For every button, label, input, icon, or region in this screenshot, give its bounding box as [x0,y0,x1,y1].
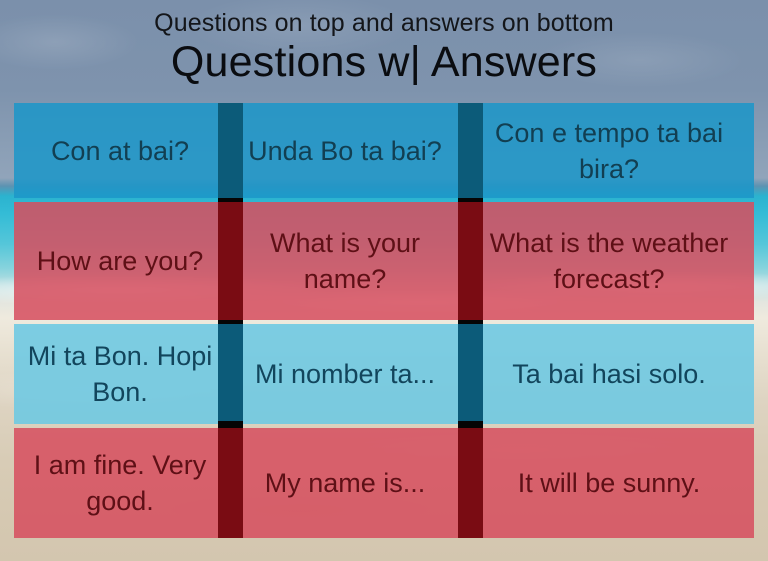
slide-canvas: Questions on top and answers on bottom Q… [0,0,768,561]
table-row-question-papiamento: Con at bai? Unda Bo ta bai? Con e tempo … [14,103,754,198]
slide-subtitle: Questions on top and answers on bottom [0,0,768,39]
table-cell: It will be sunny. [464,428,754,538]
divider-segment [218,421,243,428]
table-row-answer-english: I am fine. Very good. My name is... It w… [14,428,754,538]
table-cell: Ta bai hasi solo. [464,324,754,424]
slide-header: Questions on top and answers on bottom Q… [0,0,768,87]
vocabulary-table: Con at bai? Unda Bo ta bai? Con e tempo … [14,103,754,538]
slide-title: Questions w| Answers [0,37,768,87]
table-cell: Mi nomber ta... [226,324,464,424]
divider-segment [218,428,243,538]
table-cell: Unda Bo ta bai? [226,103,464,198]
divider-segment [218,103,243,198]
table-cell: My name is... [226,428,464,538]
divider-segment [218,202,243,320]
divider-segment [458,421,483,428]
table-row-question-english: How are you? What is your name? What is … [14,202,754,320]
table-cell: Con at bai? [14,103,226,198]
table-cell: Mi ta Bon. Hopi Bon. [14,324,226,424]
table-cell: What is the weather forecast? [464,202,754,320]
divider-segment [458,103,483,198]
divider-segment [458,202,483,320]
table-row-answer-papiamento: Mi ta Bon. Hopi Bon. Mi nomber ta... Ta … [14,324,754,424]
table-cell: I am fine. Very good. [14,428,226,538]
divider-segment [458,324,483,424]
table-cell: What is your name? [226,202,464,320]
divider-segment [458,428,483,538]
divider-segment [218,324,243,424]
table-cell: Con e tempo ta bai bira? [464,103,754,198]
table-cell: How are you? [14,202,226,320]
